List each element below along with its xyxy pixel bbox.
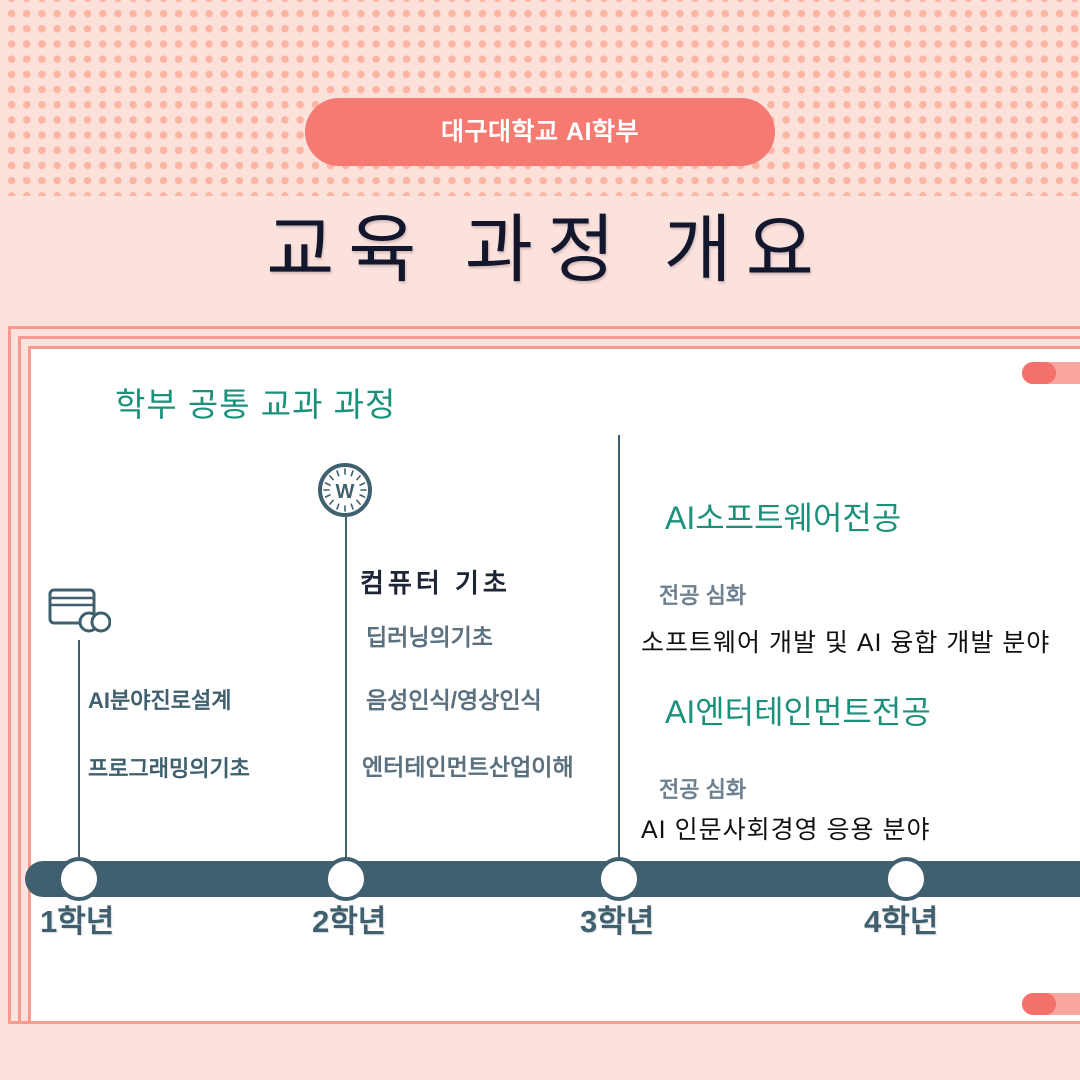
department-badge-label: 대구대학교 AI학부 bbox=[441, 120, 639, 145]
year1-course-1: AI분야진로설계 bbox=[88, 690, 231, 712]
major-1-subtitle: 전공 심화 bbox=[659, 585, 746, 607]
year2-course-2: 음성인식/영상인식 bbox=[366, 689, 542, 712]
major-2-title: AI엔터테인먼트전공 bbox=[665, 696, 931, 728]
poster-root: 대구대학교 AI학부 교육 과정 개요 학부 공통 교과 과정 bbox=[0, 0, 1080, 1080]
timeline-node-year-1[interactable] bbox=[57, 857, 101, 901]
stem-year-1 bbox=[78, 640, 80, 880]
year2-course-3: 엔터테인먼트산업이해 bbox=[362, 756, 574, 779]
side-tab-top bbox=[1022, 362, 1080, 384]
common-track-heading: 학부 공통 교과 과정 bbox=[115, 388, 396, 421]
side-tab-bottom bbox=[1022, 993, 1080, 1015]
major-1-description: 소프트웨어 개발 및 AI 융합 개발 분야 bbox=[641, 631, 1050, 656]
major-2-description: AI 인문사회경영 응용 분야 bbox=[641, 818, 930, 843]
page-title: 교육 과정 개요 bbox=[0, 213, 1080, 287]
timeline-node-year-3[interactable] bbox=[597, 857, 641, 901]
timeline-label-year-1: 1학년 bbox=[40, 906, 114, 937]
compass-icon-letter: W bbox=[336, 481, 355, 503]
year1-course-2: 프로그래밍의기초 bbox=[88, 758, 250, 780]
year2-course-1: 딥러닝의기초 bbox=[366, 626, 493, 649]
stem-year-2 bbox=[345, 517, 347, 879]
timeline-label-year-3: 3학년 bbox=[580, 906, 654, 937]
compass-icon: W bbox=[316, 461, 374, 524]
timeline-label-year-2: 2학년 bbox=[312, 906, 386, 937]
major-2-subtitle: 전공 심화 bbox=[659, 779, 746, 801]
credit-card-icon bbox=[47, 586, 111, 641]
stem-year-3 bbox=[618, 435, 620, 879]
department-badge: 대구대학교 AI학부 bbox=[305, 98, 775, 166]
timeline-node-year-4[interactable] bbox=[884, 857, 928, 901]
major-1-title: AI소프트웨어전공 bbox=[665, 502, 901, 534]
year2-heading: 컴퓨터 기초 bbox=[360, 570, 511, 596]
timeline-node-year-2[interactable] bbox=[324, 857, 368, 901]
timeline-label-year-4: 4학년 bbox=[864, 906, 938, 937]
